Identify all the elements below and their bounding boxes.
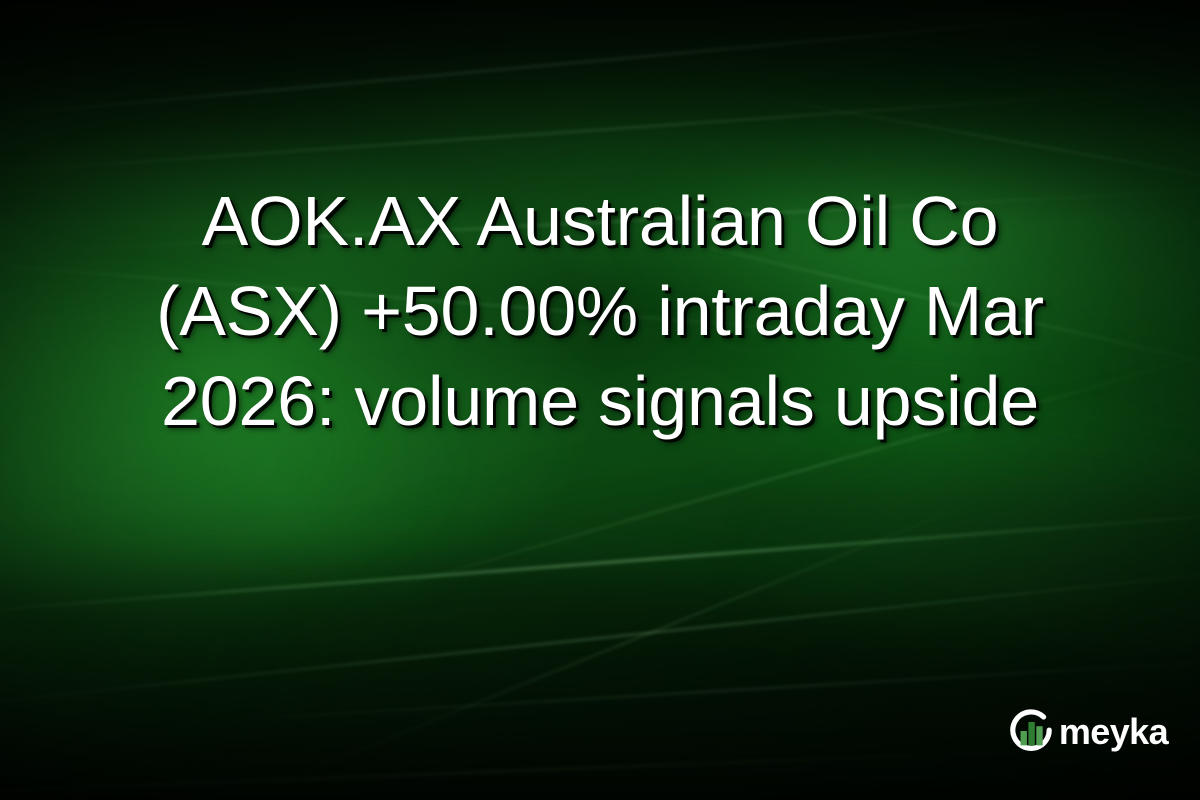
circle-bars-logo-icon bbox=[1005, 706, 1057, 758]
news-card: AOK.AX Australian Oil Co (ASX) +50.00% i… bbox=[0, 0, 1200, 800]
logo-wordmark: meyka bbox=[1059, 714, 1168, 750]
meyka-logo[interactable]: meyka bbox=[1005, 706, 1168, 758]
headline-text: AOK.AX Australian Oil Co (ASX) +50.00% i… bbox=[60, 176, 1140, 446]
